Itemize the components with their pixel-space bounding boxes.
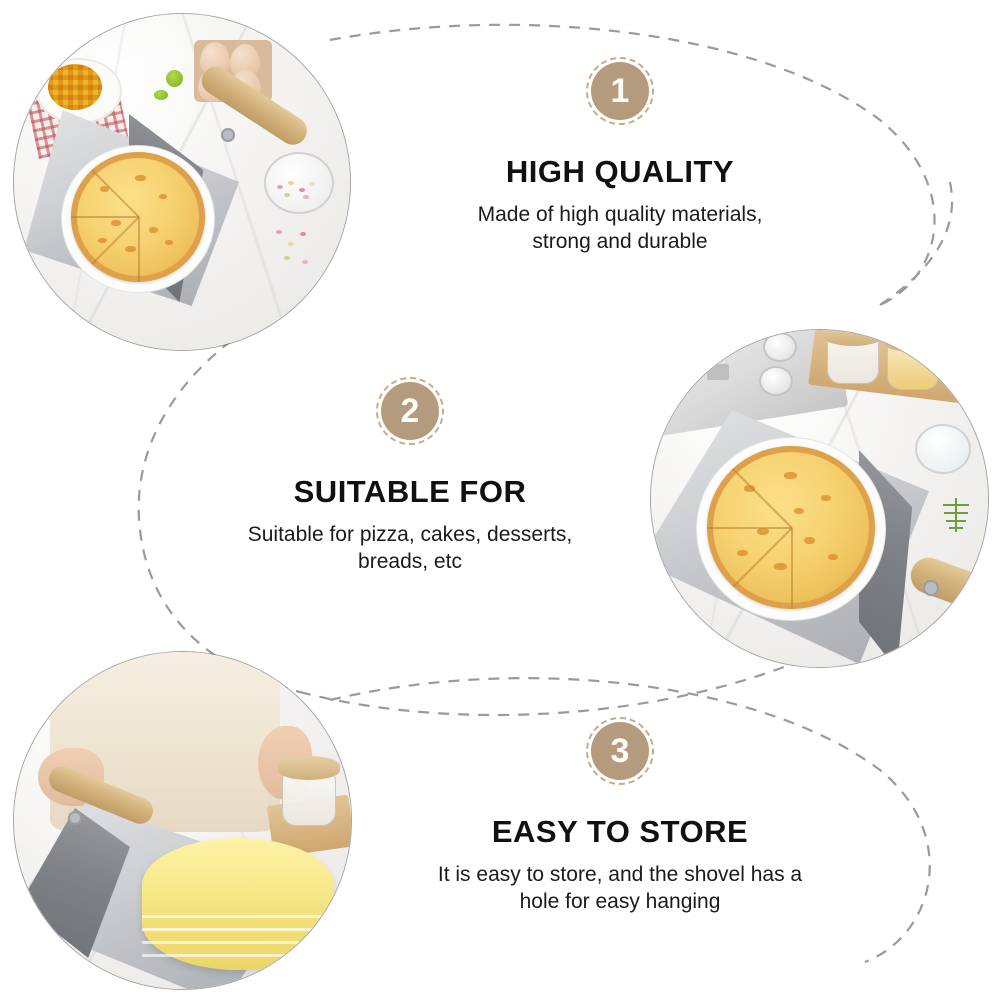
step-1-description-line-1: Made of high quality materials, xyxy=(400,201,840,229)
cheese-pizza-1 xyxy=(71,152,205,282)
step-2-description-line-1: Suitable for pizza, cakes, desserts, xyxy=(190,521,630,549)
handle-hanging-hole xyxy=(221,128,235,142)
step-3-description-line-2: hole for easy hanging xyxy=(400,888,840,916)
step-1-description-line-2: strong and durable xyxy=(400,228,840,256)
dashed-arc-2-right xyxy=(880,175,952,305)
infographic-root: 1 HIGH QUALITY Made of high quality mate… xyxy=(0,0,1002,1002)
product-photo-3 xyxy=(14,652,351,989)
step-1-number-badge: 1 xyxy=(591,62,649,120)
step-2-description: Suitable for pizza, cakes, desserts, bre… xyxy=(190,521,630,576)
step-2-title: SUITABLE FOR xyxy=(190,474,630,510)
handle-hanging-hole-2 xyxy=(923,580,939,596)
product-photo-2 xyxy=(651,330,988,667)
jar-lid-3 xyxy=(278,756,340,780)
microwave-knob xyxy=(759,366,793,396)
step-3-description: It is easy to store, and the shovel has … xyxy=(400,861,840,916)
microwave-panel xyxy=(709,336,731,352)
step-3: 3 EASY TO STORE It is easy to store, and… xyxy=(400,722,840,916)
cheese-pizza-2 xyxy=(707,446,875,609)
step-3-title: EASY TO STORE xyxy=(400,814,840,850)
rosemary-sprig xyxy=(941,498,971,532)
step-1-number: 1 xyxy=(611,72,630,110)
lifter-hanging-hole xyxy=(68,811,82,825)
dried-flower-bowl xyxy=(264,152,334,214)
step-3-number-badge: 3 xyxy=(591,722,649,780)
step-3-number: 3 xyxy=(611,732,630,770)
lime-slice-whole xyxy=(166,70,183,87)
microwave-knob xyxy=(763,332,797,362)
microwave-panel xyxy=(707,364,729,380)
white-cup xyxy=(915,424,971,474)
step-2-number: 2 xyxy=(401,392,420,430)
waffle xyxy=(48,64,102,110)
step-1-description: Made of high quality materials, strong a… xyxy=(400,201,840,256)
step-1-title: HIGH QUALITY xyxy=(400,154,840,190)
jar-lid xyxy=(884,330,942,352)
step-2-description-line-2: breads, etc xyxy=(190,548,630,576)
crepe-cake xyxy=(142,838,334,970)
step-2: 2 SUITABLE FOR Suitable for pizza, cakes… xyxy=(190,382,630,576)
step-2-number-badge: 2 xyxy=(381,382,439,440)
step-3-description-line-1: It is easy to store, and the shovel has … xyxy=(400,861,840,889)
lime-slice-half xyxy=(154,90,168,100)
step-1: 1 HIGH QUALITY Made of high quality mate… xyxy=(400,62,840,256)
product-photo-1 xyxy=(14,14,350,350)
